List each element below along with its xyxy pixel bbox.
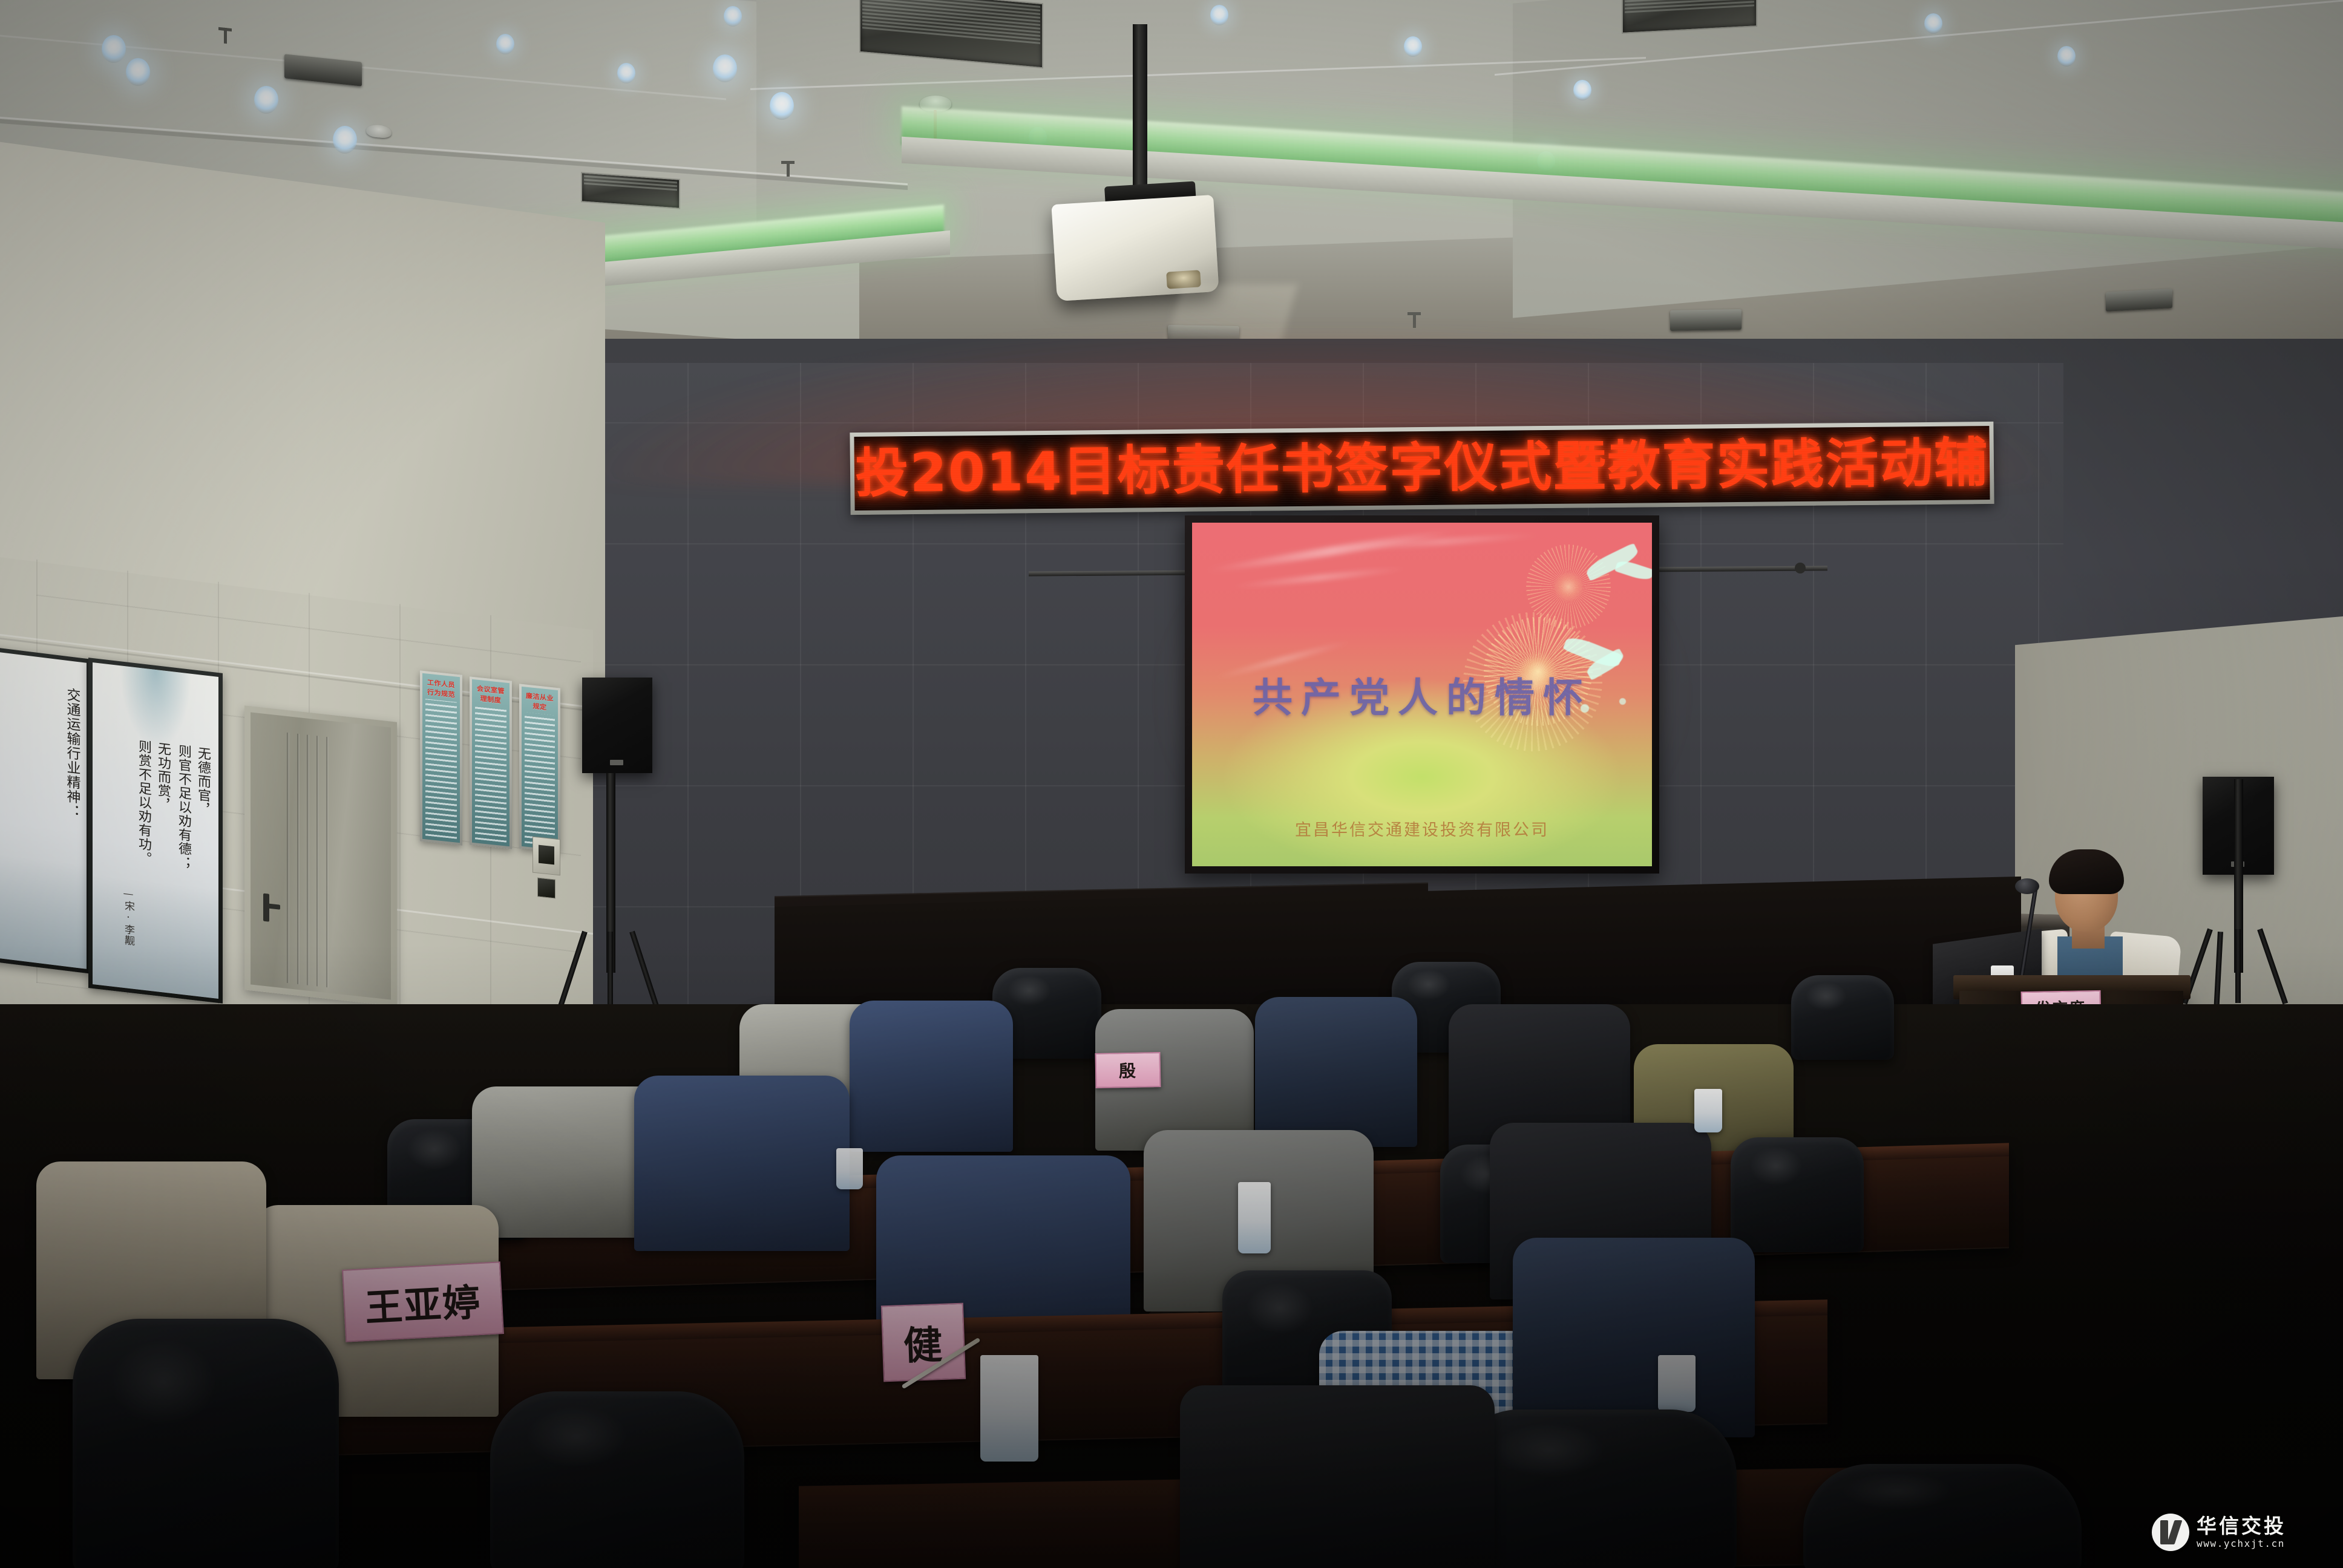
regulation-board-inner: 工作人员行为规范 — [422, 673, 460, 843]
pa-speaker-left — [582, 678, 652, 773]
chair[interactable] — [490, 1391, 744, 1568]
pa-speaker-tripod-leg — [608, 932, 613, 1004]
conference-hall-photo: 华信交投2014目标责任书签字仪式暨教育实践活动辅导党课 共产党人的情怀 — [0, 0, 2343, 1568]
ceiling-downlight — [2057, 46, 2076, 67]
water-cup[interactable] — [836, 1148, 863, 1189]
light-switch-plate[interactable] — [532, 837, 560, 876]
ceiling-speaker-grille — [2106, 289, 2172, 312]
ink-top-decoration — [120, 665, 191, 751]
chair[interactable] — [1803, 1464, 2082, 1568]
ceiling-speaker-grille — [1670, 309, 1742, 331]
side-door[interactable] — [244, 705, 397, 1006]
chair[interactable] — [1791, 975, 1894, 1060]
ceiling-downlight — [724, 6, 742, 27]
regulation-board: 廉洁从业规定 — [519, 684, 560, 852]
regulation-board: 工作人员行为规范 — [420, 670, 462, 845]
wall-quote-line-3: 无功而赏， — [155, 741, 170, 942]
watermark: 华信交投 www.ychxjt.cn — [2152, 1509, 2333, 1556]
ceiling-downlight — [102, 35, 126, 63]
regulation-board-inner: 廉洁从业规定 — [522, 687, 558, 850]
regulation-board: 会议室管理制度 — [470, 676, 512, 849]
led-banner-text: 华信交投2014目标责任书签字仪式暨教育实践活动辅导党课 — [854, 434, 1990, 501]
ink-wash-decoration — [0, 852, 87, 969]
curtain-rod-knob — [1795, 563, 1806, 573]
light-streak-icon — [1205, 527, 1457, 575]
ceiling-hook — [1413, 312, 1416, 328]
chair[interactable] — [1452, 1410, 1737, 1568]
water-cup[interactable] — [1694, 1089, 1722, 1132]
microphone-icon — [2015, 878, 2039, 894]
wall-frame-quote-inner: 无德而官， 则官不足以劝有德； 无功而赏， 则赏不足以劝有功。 —宋·李觏 — [93, 662, 218, 999]
audience-torso — [1180, 1385, 1495, 1568]
ceiling-hook — [787, 161, 790, 177]
regulation-board-text-lines — [525, 712, 555, 846]
ceiling-downlight — [1210, 5, 1228, 25]
name-placard: 王亚婷 — [342, 1261, 504, 1342]
door-handle[interactable] — [263, 893, 269, 922]
regulation-board-text-lines — [425, 699, 457, 838]
wall-spirit-text: 交通运输行业精神： — [64, 687, 79, 819]
wall-frame-spirit-inner: 交通运输行业精神： — [0, 650, 87, 969]
audience-torso — [1255, 997, 1417, 1147]
ceiling-hook — [224, 28, 227, 44]
audience-torso — [850, 1001, 1013, 1152]
water-cup[interactable] — [980, 1355, 1038, 1462]
ceiling-downlight — [770, 92, 794, 120]
wall-quote-line-2: 则官不足以劝有德； — [175, 743, 191, 957]
projection-screen: 共产党人的情怀 宜昌华信交通建设投资有限公司 — [1185, 515, 1659, 874]
chair[interactable] — [73, 1319, 339, 1568]
slide-subtitle: 宜昌华信交通建设投资有限公司 — [1192, 817, 1652, 840]
ceiling-downlight — [496, 34, 514, 54]
light-streak-icon — [1228, 565, 1409, 590]
led-banner-screen: 华信交投2014目标责任书签字仪式暨教育实践活动辅导党课 — [854, 426, 1990, 511]
company-logo-icon — [2152, 1514, 2189, 1551]
ceiling-downlight — [713, 54, 737, 82]
name-placard: 健 — [881, 1303, 966, 1382]
regulation-board-heading: 工作人员行为规范 — [425, 677, 457, 699]
projector-lens — [1166, 270, 1201, 289]
chair[interactable] — [1731, 1137, 1864, 1252]
ceiling-downlight — [1924, 13, 1942, 34]
ceiling-downlight — [126, 58, 150, 86]
firework-icon — [1526, 544, 1611, 629]
projection-screen-surface: 共产党人的情怀 宜昌华信交通建设投资有限公司 — [1192, 523, 1652, 866]
ceiling-downlight — [1404, 36, 1422, 57]
power-outlet[interactable] — [537, 877, 555, 898]
ceiling-downlight — [617, 63, 635, 83]
water-cup[interactable] — [1658, 1355, 1696, 1412]
slide-title: 共产党人的情怀 — [1192, 665, 1652, 724]
name-placard-text: 殷 — [1119, 1058, 1138, 1083]
regulation-board-heading: 会议室管理制度 — [475, 683, 506, 705]
wall-quote-line-1: 无德而官， — [195, 746, 210, 947]
ceiling-downlight — [1573, 80, 1591, 100]
ceiling-downlight — [254, 86, 278, 114]
watermark-url: www.ychxjt.cn — [2197, 1539, 2286, 1549]
projector-mount-pole — [1133, 24, 1147, 200]
regulation-board-heading: 廉洁从业规定 — [525, 690, 555, 713]
dove-icon — [1614, 558, 1652, 583]
pa-speaker-tripod-leg — [2235, 929, 2241, 1003]
led-banner: 华信交投2014目标责任书签字仪式暨教育实践活动辅导党课 — [850, 422, 1994, 515]
water-cup[interactable] — [1238, 1182, 1271, 1253]
name-placard-text: 王亚婷 — [364, 1272, 482, 1332]
wall-quote-attribution: —宋·李觏 — [122, 887, 134, 947]
wall-frame-quote: 无德而官， 则官不足以劝有德； 无功而赏， 则赏不足以劝有功。 —宋·李觏 — [88, 658, 223, 1004]
ceiling-downlight — [333, 126, 357, 154]
name-placard: 殷 — [1095, 1052, 1161, 1088]
regulation-board-inner: 会议室管理制度 — [472, 679, 510, 847]
regulation-board-text-lines — [475, 705, 506, 842]
watermark-company-name: 华信交投 — [2197, 1516, 2286, 1536]
audience-torso — [634, 1076, 850, 1251]
wall-frame-spirit: 交通运输行业精神： — [0, 645, 91, 973]
audience-torso — [1513, 1238, 1755, 1437]
wall-quote-line-4: 则赏不足以劝有功。 — [136, 739, 151, 952]
door-leaf[interactable] — [251, 712, 391, 999]
